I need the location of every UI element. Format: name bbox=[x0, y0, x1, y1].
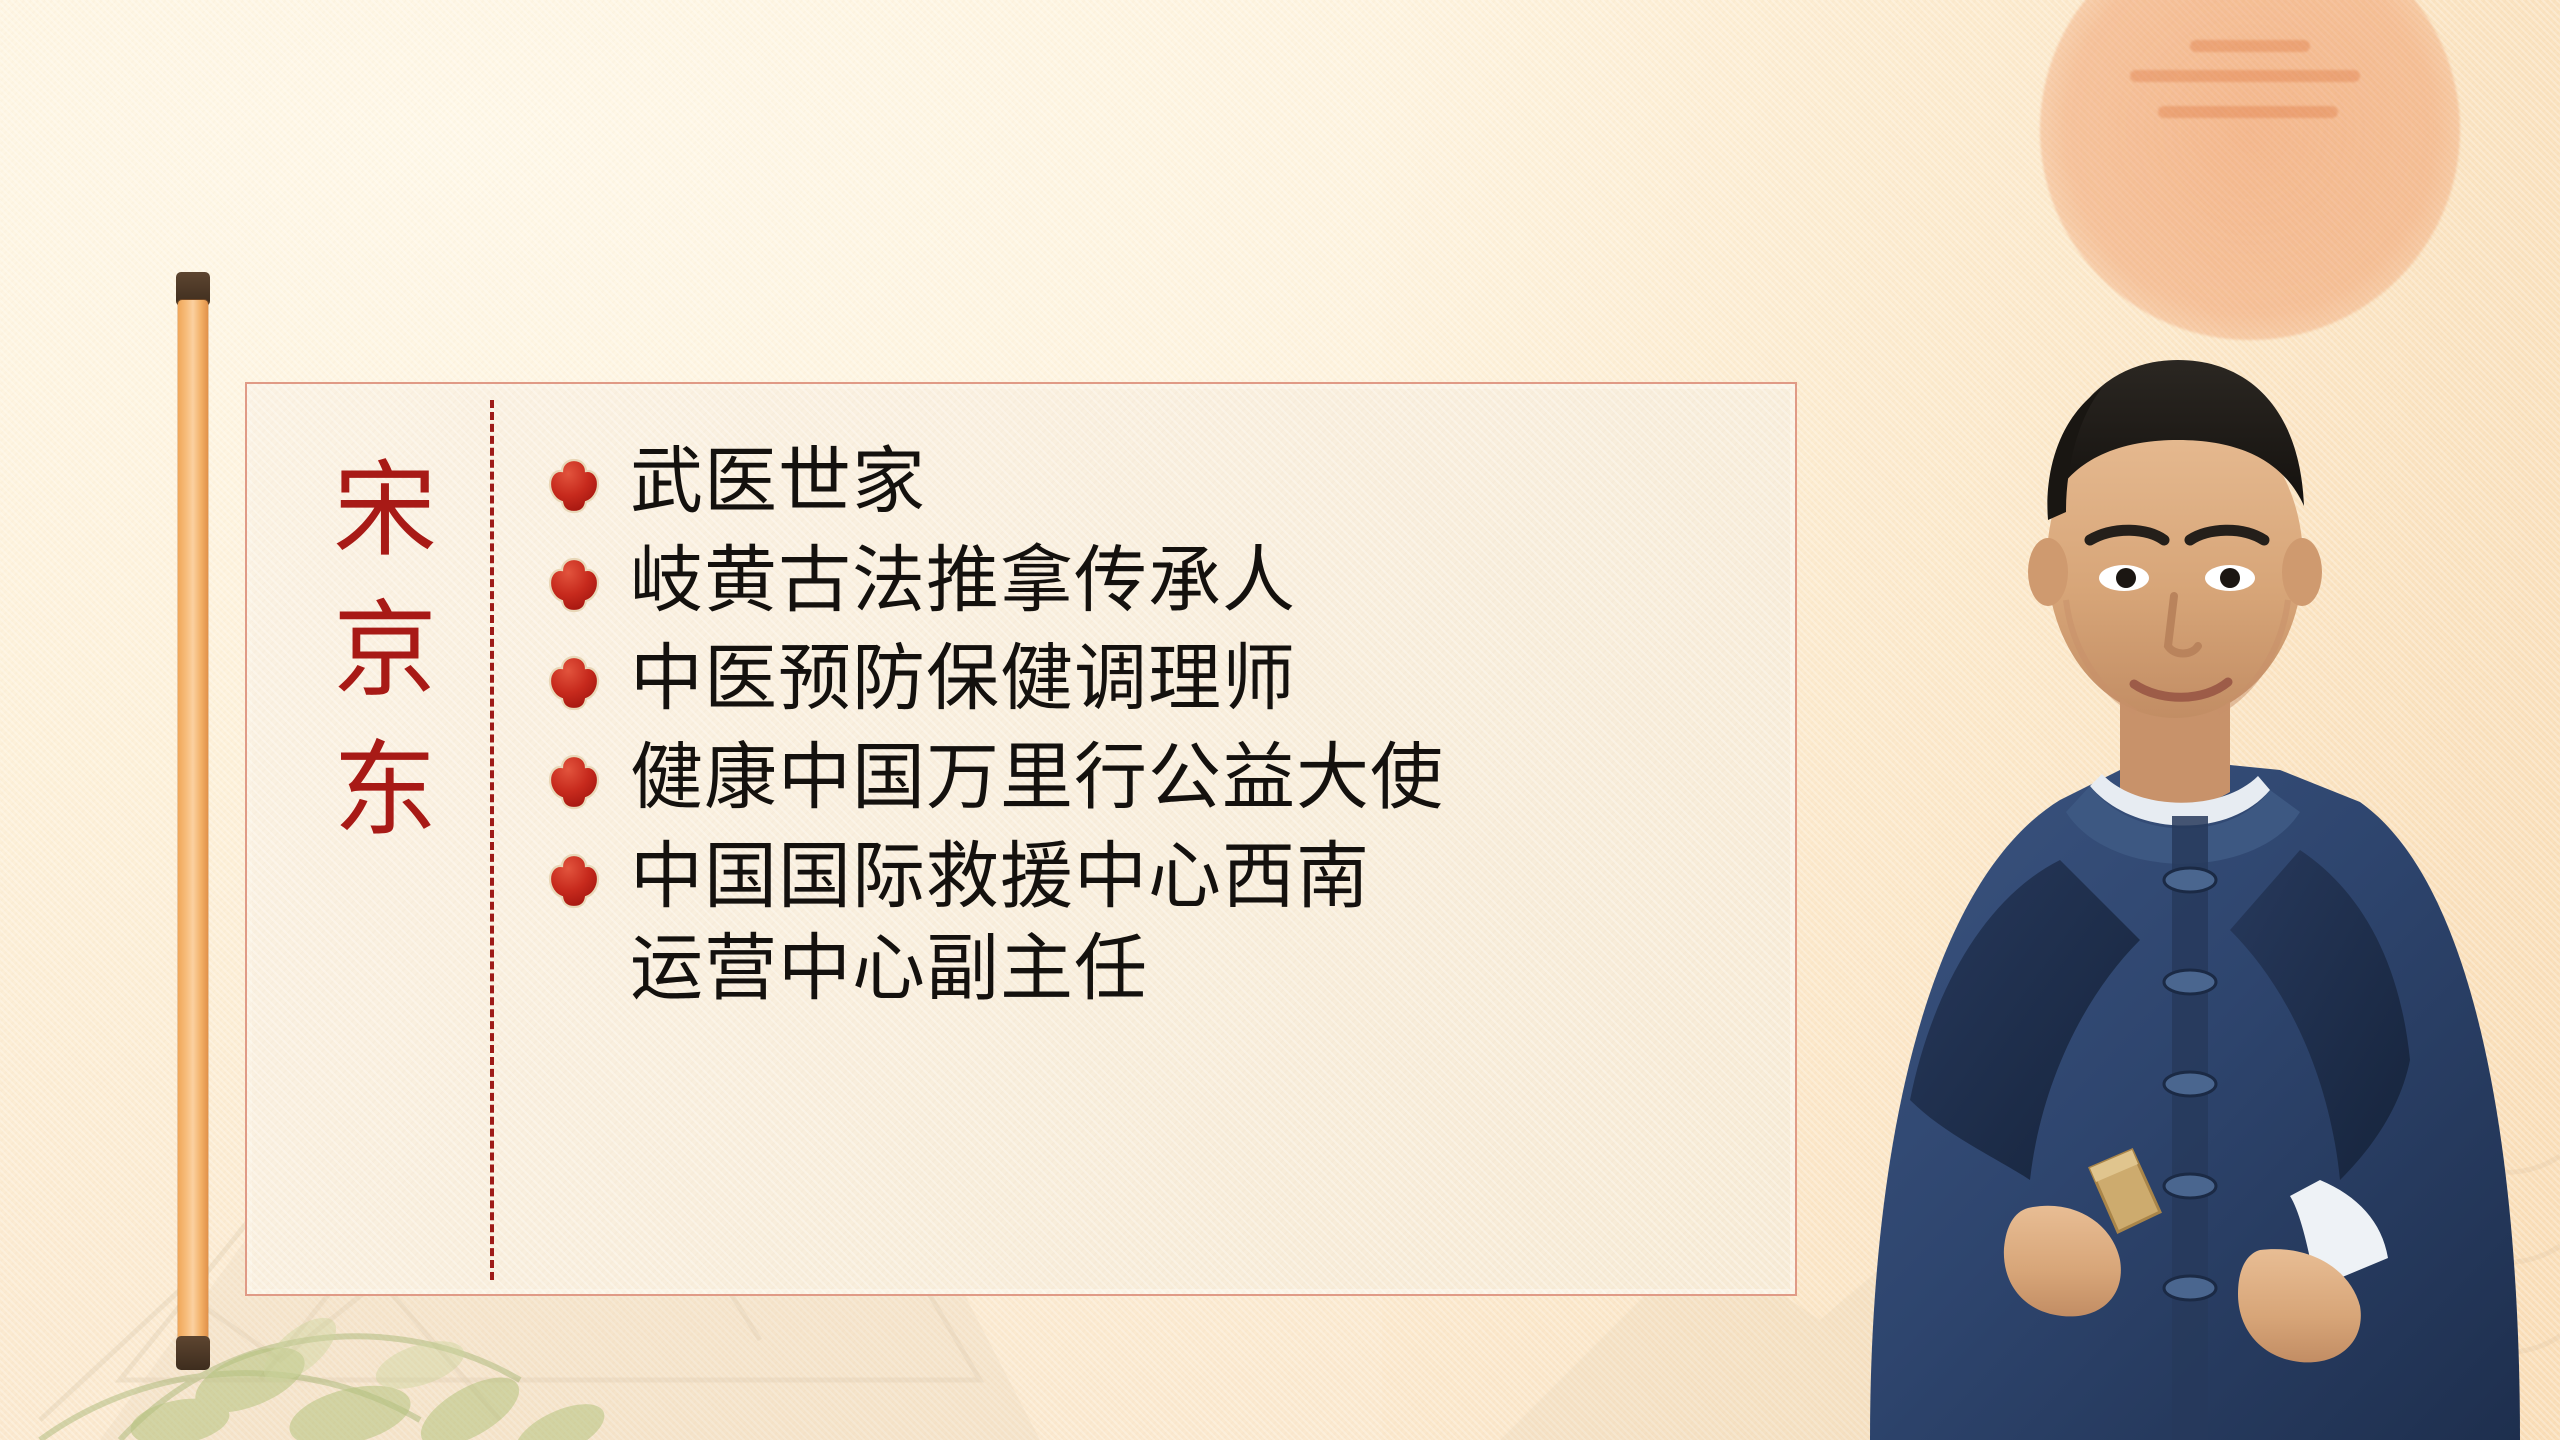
name-column: 宋 京 东 bbox=[300, 440, 470, 1230]
list-item: 武医世家 bbox=[548, 440, 1698, 525]
credential-text: 中国国际救援中心西南 bbox=[630, 835, 1370, 920]
seal-flower-bullet-icon bbox=[548, 853, 600, 909]
list-item: 中医预防保健调理师 bbox=[548, 637, 1698, 722]
name-char-3: 东 bbox=[333, 740, 437, 844]
credential-text: 健康中国万里行公益大使 bbox=[630, 736, 1444, 821]
credential-text: 岐黄古法推拿传承人 bbox=[630, 539, 1296, 624]
man-in-blue-tangsuit-portrait bbox=[1760, 0, 2560, 1440]
seal-flower-bullet-icon bbox=[548, 655, 600, 711]
credential-text: 中医预防保健调理师 bbox=[630, 637, 1296, 722]
list-item: 健康中国万里行公益大使 bbox=[548, 736, 1698, 821]
seal-flower-bullet-icon bbox=[548, 458, 600, 514]
profile-banner: 宋 京 东 武医世家 bbox=[0, 0, 2560, 1440]
credential-text: 武医世家 bbox=[630, 440, 926, 525]
credential-list: 武医世家 岐黄古法推拿传承人 中医预防保健调理师 bbox=[548, 440, 1698, 1022]
list-item: 中国国际救援中心西南 bbox=[548, 835, 1698, 920]
list-item: 岐黄古法推拿传承人 bbox=[548, 539, 1698, 624]
name-char-1: 宋 bbox=[333, 460, 437, 564]
name-char-2: 京 bbox=[333, 600, 437, 704]
seal-flower-bullet-icon bbox=[548, 754, 600, 810]
credential-text-continuation: 运营中心副主任 bbox=[630, 927, 1698, 1012]
orange-scroll-rod bbox=[178, 300, 208, 1340]
red-dashed-vertical-divider bbox=[490, 400, 494, 1280]
scroll-rod-bottom-finial bbox=[176, 1336, 210, 1370]
seal-flower-bullet-icon bbox=[548, 557, 600, 613]
